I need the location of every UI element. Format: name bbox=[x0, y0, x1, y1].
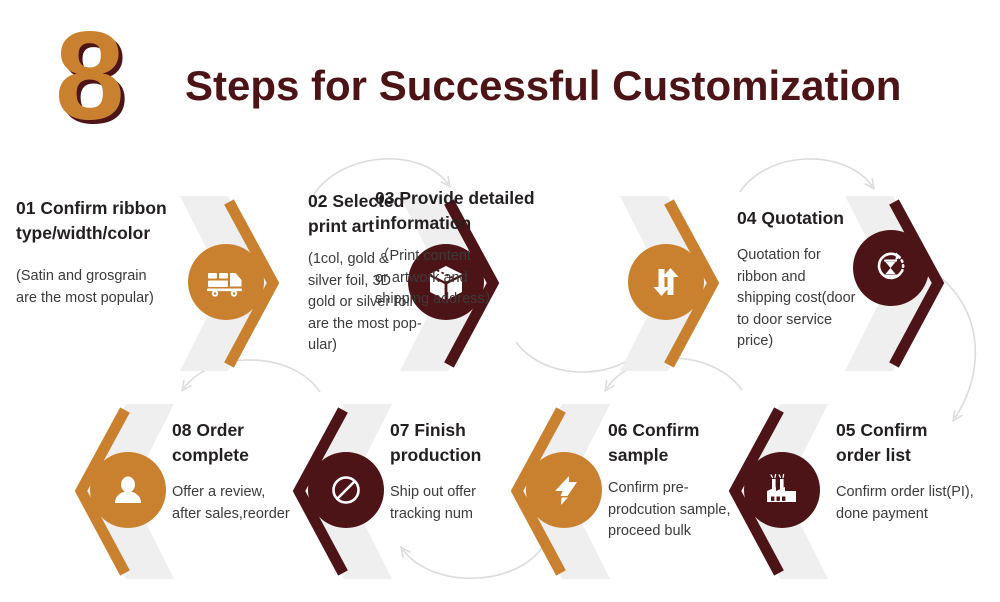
big-number-8: 8 bbox=[55, 14, 123, 139]
step-06-desc: Confirm pre- prodcution sample, proceed … bbox=[608, 478, 768, 543]
hourglass-refresh-icon bbox=[868, 245, 914, 291]
step-07-title: 07 Finish production bbox=[390, 418, 550, 468]
step-01-text: 01 Confirm ribbon type/width/color (Sati… bbox=[16, 196, 198, 309]
step-04-desc: Quotation for ribbon and shipping cost(d… bbox=[737, 245, 857, 353]
step-01-desc: (Satin and grosgrain are the most popula… bbox=[16, 266, 198, 309]
step-03-title: 03 Provide detailed information bbox=[375, 186, 625, 236]
transfer-arrows-icon bbox=[645, 261, 687, 303]
step-04-icon-circle bbox=[853, 230, 929, 306]
truck-icon bbox=[203, 259, 249, 305]
arrow-03-to-04 bbox=[740, 159, 872, 192]
step-07-desc: Ship out offer tracking num bbox=[390, 482, 550, 525]
step-05-text: 05 Confirm order list Confirm order list… bbox=[836, 418, 1000, 525]
step-07-text: 07 Finish production Ship out offer trac… bbox=[390, 418, 550, 525]
step-08-text: 08 Order complete Offer a review, after … bbox=[172, 418, 347, 525]
step-03-icon-circle bbox=[628, 244, 704, 320]
step-05-title: 05 Confirm order list bbox=[836, 418, 1000, 468]
step-08-title: 08 Order complete bbox=[172, 418, 347, 468]
user-person-icon bbox=[107, 469, 149, 511]
step-06-text: 06 Confirm sample Confirm pre- prodcutio… bbox=[608, 418, 768, 543]
step-08-icon-circle bbox=[90, 452, 166, 528]
step-03-text: 03 Provide detailed information （Print c… bbox=[375, 186, 625, 311]
header: 8 Steps for Successful Customization bbox=[0, 0, 1000, 158]
step-06-title: 06 Confirm sample bbox=[608, 418, 768, 468]
step-04-title: 04 Quotation bbox=[737, 206, 857, 231]
infographic-root: 8 Steps for Successful Customization bbox=[0, 0, 1000, 602]
step-08-desc: Offer a review, after sales,reorder bbox=[172, 482, 347, 525]
step-01-icon-circle bbox=[188, 244, 264, 320]
step-01-title: 01 Confirm ribbon type/width/color bbox=[16, 196, 198, 246]
page-title: Steps for Successful Customization bbox=[185, 62, 901, 110]
step-03-desc: （Print content or artwork and shipping a… bbox=[375, 246, 625, 311]
step-05-desc: Confirm order list(PI), done payment bbox=[836, 482, 1000, 525]
step-04-text: 04 Quotation Quotation for ribbon and sh… bbox=[737, 206, 857, 353]
